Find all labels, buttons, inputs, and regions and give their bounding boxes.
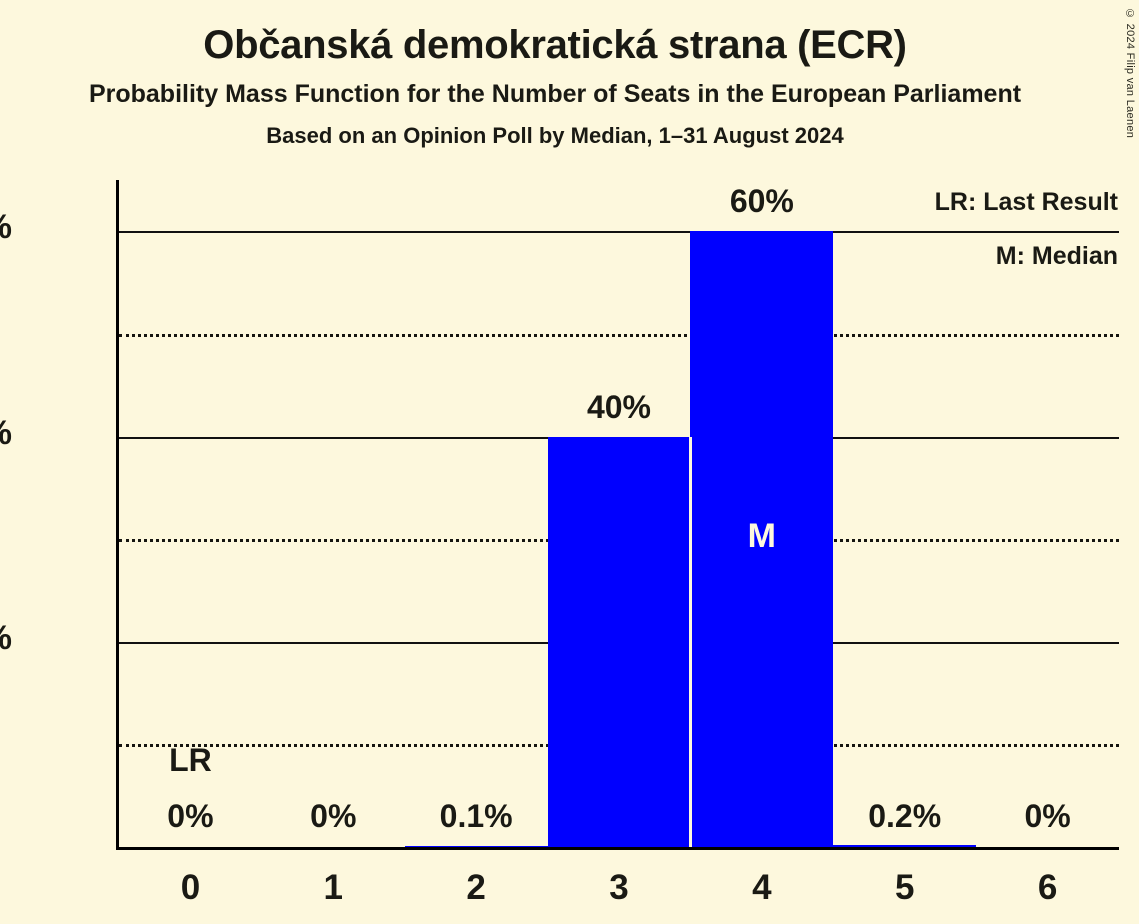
chart-source: Based on an Opinion Poll by Median, 1–31…: [0, 107, 1110, 147]
median-marker: M: [690, 517, 833, 556]
gridline-minor: [119, 334, 1119, 337]
bar: [548, 437, 691, 847]
bar-value-label: 60%: [690, 183, 833, 220]
bar-value-label: 0.1%: [405, 798, 548, 835]
x-axis-tick-label: 3: [548, 868, 691, 908]
bar: [833, 845, 976, 847]
x-axis-tick-label: 4: [690, 868, 833, 908]
page-title: Občanská demokratická strana (ECR): [0, 0, 1110, 66]
chart-subtitle: Probability Mass Function for the Number…: [0, 66, 1110, 107]
bar-value-label: 0%: [976, 798, 1119, 835]
x-axis-tick-label: 1: [262, 868, 405, 908]
x-axis-tick-label: 0: [119, 868, 262, 908]
title-block: Občanská demokratická strana (ECR) Proba…: [0, 0, 1110, 147]
bar: [405, 846, 548, 848]
copyright-notice: © 2024 Filip van Laenen: [1124, 8, 1136, 138]
bar-separator: [689, 437, 692, 847]
y-axis-tick-label: 20%: [0, 619, 12, 658]
x-axis-tick-label: 6: [976, 868, 1119, 908]
y-axis-tick-label: 40%: [0, 414, 12, 453]
gridline-major: [119, 231, 1119, 233]
x-axis-tick-label: 5: [833, 868, 976, 908]
chart-plot-area: M: [119, 180, 1119, 847]
bar-value-label: 0%: [119, 798, 262, 835]
y-axis-tick-label: 60%: [0, 208, 12, 247]
bar-value-label: 40%: [548, 389, 691, 426]
bar-value-label: 0%: [262, 798, 405, 835]
bar-value-label: 0.2%: [833, 798, 976, 835]
last-result-marker: LR: [119, 742, 262, 779]
x-axis-tick-label: 2: [405, 868, 548, 908]
x-axis-line: [116, 847, 1119, 850]
